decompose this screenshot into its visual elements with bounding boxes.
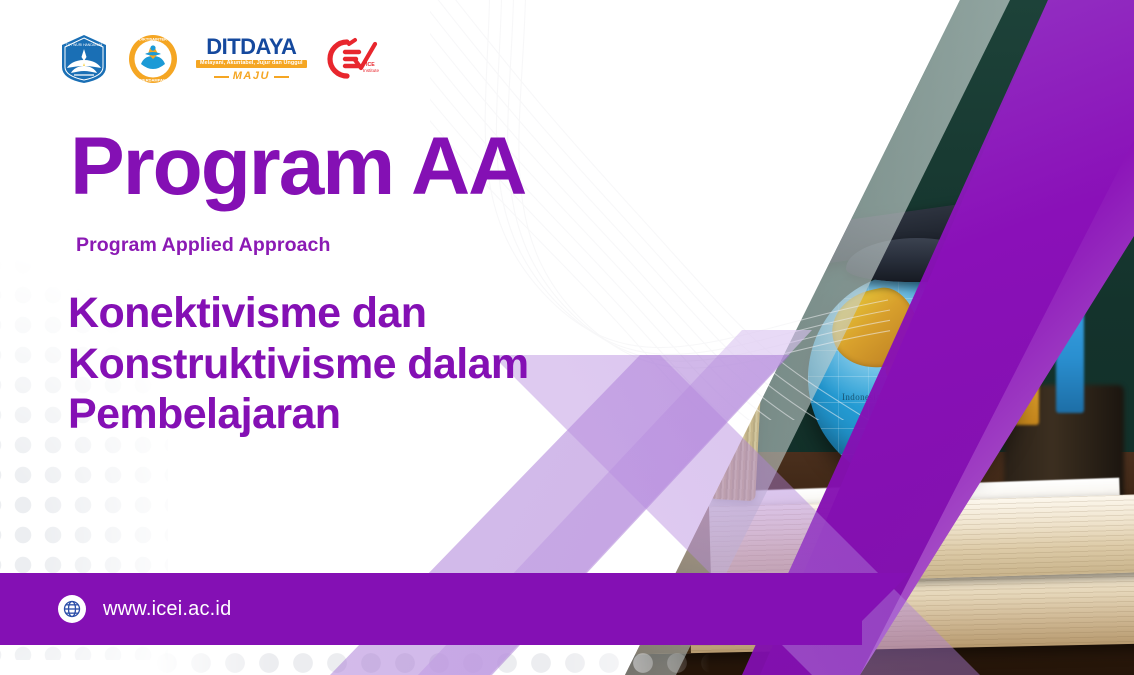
footer-content: www.icei.ac.id <box>58 573 231 645</box>
headline: Konektivisme dan Konstruktivisme dalam P… <box>68 288 529 440</box>
headline-line-3: Pembelajaran <box>68 390 340 438</box>
maju-rule-right <box>274 76 289 78</box>
ditdaya-maju-text: MAJU <box>233 71 270 82</box>
logo-ice-institute: ICE Institute <box>325 36 381 82</box>
ditdaya-wordmark: DITDAYA <box>206 36 296 58</box>
headline-line-2: Konstruktivisme dalam <box>68 340 529 388</box>
logo-tut-wuri-handayani: TUT WURI HANDAYANI <box>58 33 110 85</box>
promotional-banner: Indonesia <box>0 0 1134 675</box>
ditdaya-maju-row: MAJU <box>214 71 289 82</box>
maju-rule-left <box>214 76 229 78</box>
website-url[interactable]: www.icei.ac.id <box>103 598 231 621</box>
logo-row: TUT WURI HANDAYANI DIKTISAINTEK BERDAMPA… <box>58 31 381 87</box>
logo-diktisaintek-berdampak: DIKTISAINTEK BERDAMPAK <box>128 34 178 84</box>
svg-text:DIKTISAINTEK: DIKTISAINTEK <box>139 37 167 42</box>
logo-ditdaya-maju: DITDAYA Melayani, Akuntabel, Jujur dan U… <box>196 36 307 82</box>
title-block: Program AA Program Applied Approach <box>70 126 525 257</box>
svg-text:Institute: Institute <box>363 68 380 73</box>
page-title: Program AA <box>70 126 525 208</box>
svg-text:BERDAMPAK: BERDAMPAK <box>140 78 166 83</box>
svg-text:TUT WURI HANDAYANI: TUT WURI HANDAYANI <box>66 43 103 47</box>
page-subtitle: Program Applied Approach <box>76 234 525 257</box>
ditdaya-tagline: Melayani, Akuntabel, Jujur dan Unggul <box>196 60 307 68</box>
headline-line-1: Konektivisme dan <box>68 289 426 337</box>
globe-icon <box>58 595 86 623</box>
